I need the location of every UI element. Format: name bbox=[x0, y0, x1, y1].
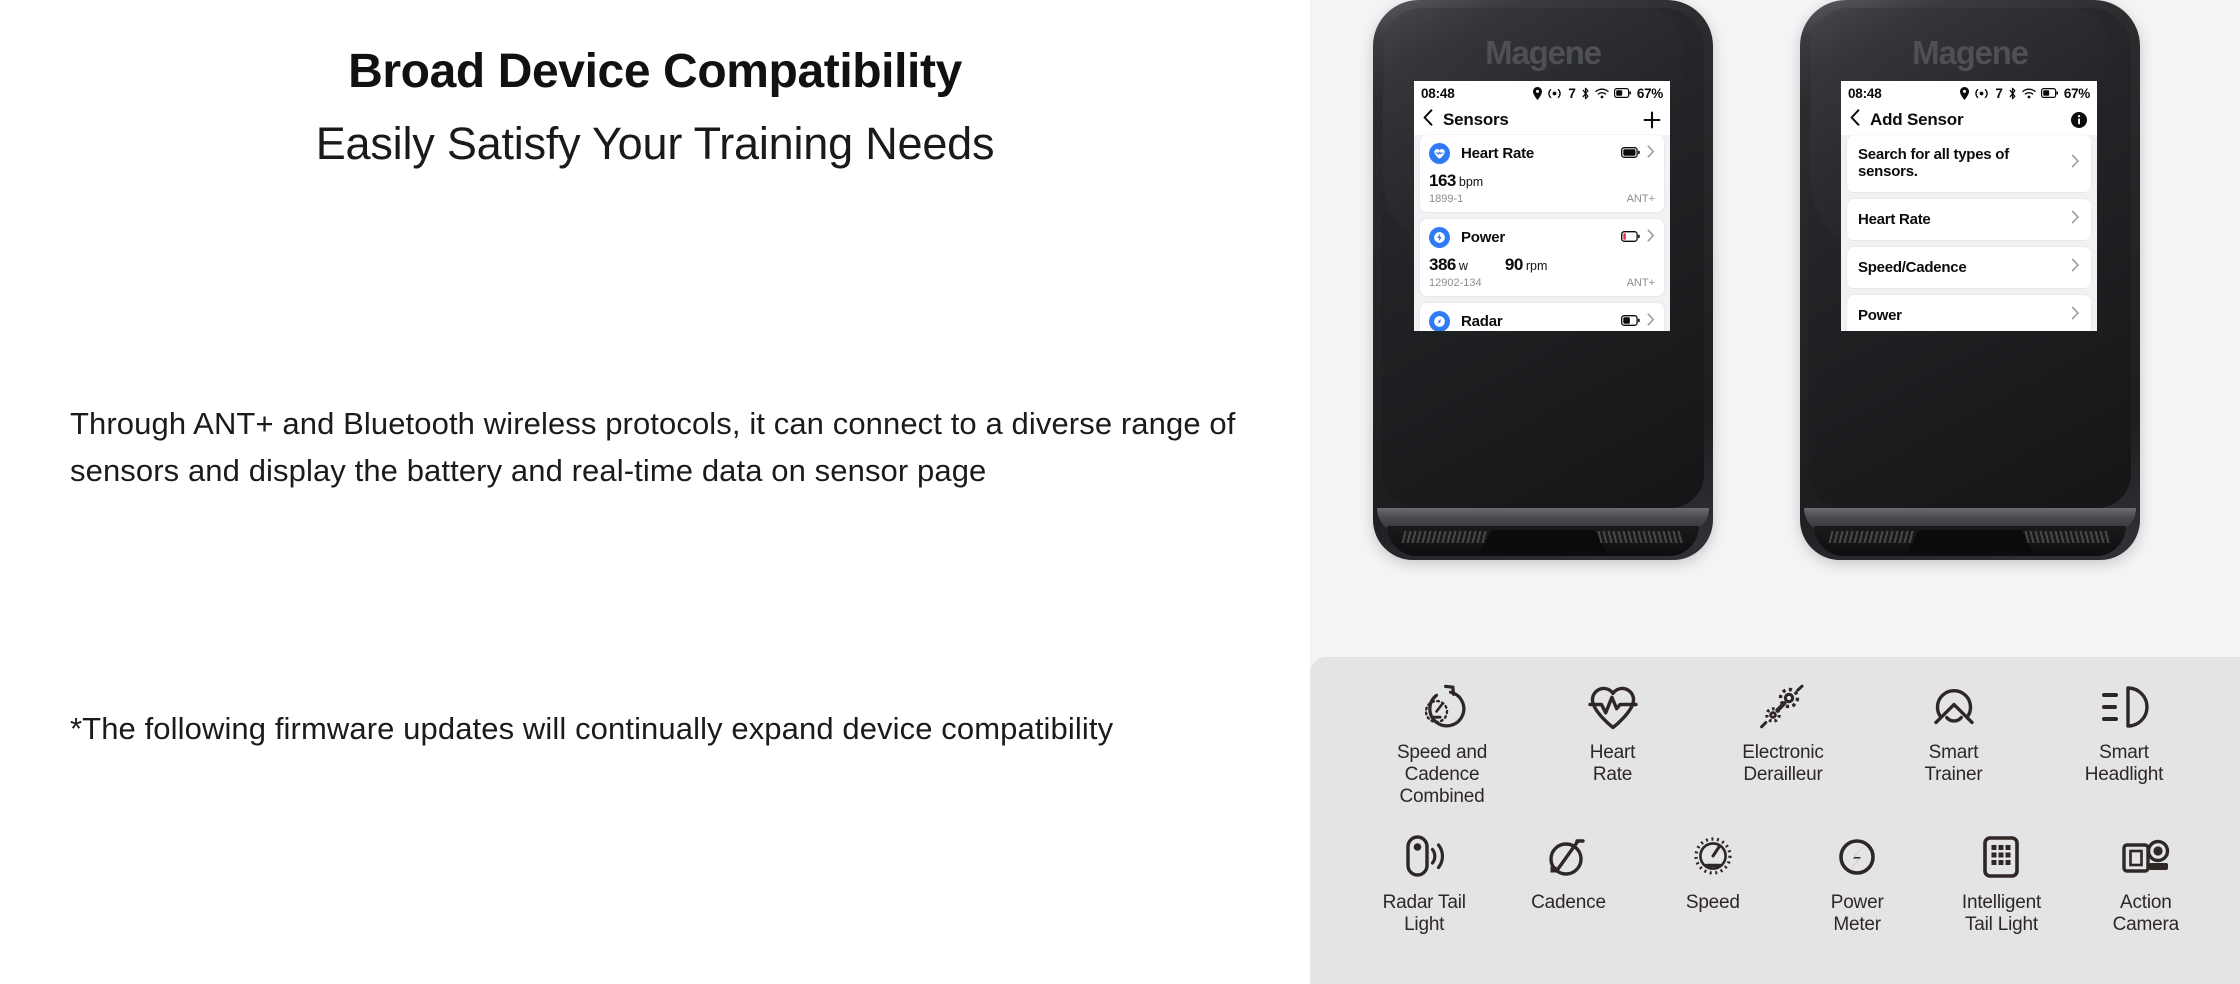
gps-pin-icon bbox=[1960, 87, 1969, 100]
bluetooth-icon bbox=[1581, 87, 1590, 100]
card-header-right bbox=[1621, 229, 1655, 247]
compat-label: HeartRate bbox=[1590, 742, 1635, 786]
sensor-card-heart-rate[interactable]: Heart Rate bbox=[1420, 135, 1664, 212]
sensor-name: Power bbox=[1461, 229, 1505, 246]
status-time: 08:48 bbox=[1421, 86, 1455, 101]
action-camera-icon bbox=[2120, 831, 2172, 883]
compat-label: SmartHeadlight bbox=[2085, 742, 2163, 786]
compat-label: ActionCamera bbox=[2113, 892, 2179, 936]
compat-item-action-camera: ActionCamera bbox=[2074, 831, 2218, 936]
sensor-protocol: ANT+ bbox=[1627, 193, 1655, 205]
back-chevron-left-icon[interactable] bbox=[1423, 109, 1433, 131]
brand-logo: Magene bbox=[1800, 34, 2140, 72]
status-time: 08:48 bbox=[1848, 86, 1882, 101]
chevron-right-icon[interactable] bbox=[2071, 306, 2080, 325]
sensor-card-radar[interactable]: Radar bbox=[1420, 303, 1664, 331]
battery-half-icon bbox=[1621, 313, 1640, 331]
sensor-card-power[interactable]: Power bbox=[1420, 219, 1664, 296]
compat-item-smart-trainer: SmartTrainer bbox=[1874, 681, 2034, 809]
satellite-signal-icon bbox=[1974, 88, 1989, 99]
vent-grill-right bbox=[2025, 531, 2112, 543]
card-footer: 12902-134 ANT+ bbox=[1429, 277, 1655, 289]
vent-grill-left bbox=[1402, 531, 1489, 543]
card-metrics: 163 bpm bbox=[1429, 171, 1655, 191]
chevron-right-icon[interactable] bbox=[2071, 154, 2080, 173]
footnote-paragraph: *The following firmware updates will con… bbox=[70, 705, 1180, 752]
compatibility-icon-grid: Speed andCadence Combined HeartRate bbox=[1310, 657, 2240, 984]
speed-cadence-combined-icon bbox=[1417, 681, 1467, 733]
device-screen[interactable]: 08:48 7 bbox=[1841, 81, 2097, 331]
intelligent-tail-light-icon bbox=[1979, 831, 2023, 883]
heart-rate-icon bbox=[1588, 681, 1638, 733]
metric-value: 163 bbox=[1429, 171, 1456, 191]
satellite-count: 7 bbox=[1995, 86, 2003, 101]
chevron-right-icon[interactable] bbox=[1647, 313, 1655, 331]
product-panel: Magene 08:48 7 bbox=[1310, 0, 2240, 984]
chevron-right-icon[interactable] bbox=[1647, 145, 1655, 163]
card-metrics: 386 w 90 rpm bbox=[1429, 255, 1655, 275]
power-meter-icon bbox=[1833, 831, 1881, 883]
compat-label: Radar TailLight bbox=[1383, 892, 1466, 936]
compat-label: Speed andCadence Combined bbox=[1362, 742, 1522, 809]
compat-item-heart-rate: HeartRate bbox=[1533, 681, 1693, 809]
sensor-name: Radar bbox=[1461, 313, 1503, 330]
gps-pin-icon bbox=[1533, 87, 1542, 100]
row-label: Heart Rate bbox=[1858, 211, 1931, 228]
compat-label: IntelligentTail Light bbox=[1962, 892, 2041, 936]
add-sensor-plus-icon[interactable] bbox=[1643, 111, 1661, 129]
sensor-id: 12902-134 bbox=[1429, 277, 1482, 289]
compat-label: SmartTrainer bbox=[1924, 742, 1982, 786]
battery-full-icon bbox=[1621, 145, 1640, 163]
wifi-icon bbox=[1595, 88, 1609, 99]
sensor-id: 1899-1 bbox=[1429, 193, 1463, 205]
metric-value: 386 bbox=[1429, 255, 1456, 275]
speed-icon bbox=[1689, 831, 1737, 883]
satellite-signal-icon bbox=[1547, 88, 1562, 99]
body-paragraph: Through ANT+ and Bluetooth wireless prot… bbox=[70, 400, 1250, 494]
row-label: Speed/Cadence bbox=[1858, 259, 1966, 276]
radar-icon bbox=[1429, 311, 1450, 331]
compat-label: Speed bbox=[1686, 892, 1740, 914]
chevron-right-icon[interactable] bbox=[2071, 258, 2080, 277]
page-title: Broad Device Compatibility bbox=[0, 46, 1310, 99]
card-header: Radar bbox=[1429, 311, 1655, 331]
compat-item-radar-tail-light: Radar TailLight bbox=[1352, 831, 1496, 936]
compat-label: Cadence bbox=[1531, 892, 1606, 914]
card-header: Power bbox=[1429, 227, 1655, 248]
cadence-icon bbox=[1544, 831, 1592, 883]
battery-percent: 67% bbox=[1637, 86, 1663, 101]
icon-grid-row-1: Speed andCadence Combined HeartRate bbox=[1324, 681, 2226, 809]
status-bar: 08:48 7 bbox=[1841, 81, 2097, 105]
device-screen[interactable]: 08:48 7 bbox=[1414, 81, 1670, 331]
sensor-name: Heart Rate bbox=[1461, 145, 1534, 162]
smart-trainer-icon bbox=[1930, 681, 1978, 733]
card-header-right bbox=[1621, 145, 1655, 163]
device-vent bbox=[1814, 526, 2126, 556]
compat-item-electronic-derailleur: ElectronicDerailleur bbox=[1703, 681, 1863, 809]
device-shell: Magene 08:48 7 bbox=[1800, 0, 2140, 560]
add-sensor-row-heart-rate[interactable]: Heart Rate bbox=[1847, 199, 2091, 240]
icon-grid-row-2: Radar TailLight Cadence bbox=[1324, 809, 2226, 936]
screen-navbar: Sensors bbox=[1414, 105, 1670, 135]
bluetooth-icon bbox=[2008, 87, 2017, 100]
row-label: Search for all types of sensors. bbox=[1858, 146, 2048, 181]
electronic-derailleur-icon bbox=[1758, 681, 1808, 733]
brand-logo: Magene bbox=[1373, 34, 1713, 72]
wifi-icon bbox=[2022, 88, 2036, 99]
power-bolt-icon bbox=[1429, 227, 1450, 248]
satellite-count: 7 bbox=[1568, 86, 1576, 101]
heading-block: Broad Device Compatibility Easily Satisf… bbox=[0, 46, 1310, 169]
compat-item-speed-cadence-combined: Speed andCadence Combined bbox=[1362, 681, 1522, 809]
device-showcase: Magene 08:48 7 bbox=[1310, 0, 2240, 657]
radar-tail-light-icon bbox=[1401, 831, 1447, 883]
compat-item-power-meter: PowerMeter bbox=[1785, 831, 1929, 936]
page-subtitle: Easily Satisfy Your Training Needs bbox=[0, 119, 1310, 169]
sensor-card-list: Heart Rate bbox=[1414, 135, 1670, 331]
vent-grill-right bbox=[1598, 531, 1685, 543]
device-sensors: Magene 08:48 7 bbox=[1373, 0, 1713, 590]
compat-label: ElectronicDerailleur bbox=[1742, 742, 1823, 786]
metric: 90 rpm bbox=[1505, 255, 1547, 275]
metric-value: 90 bbox=[1505, 255, 1523, 275]
metric: 386 w bbox=[1429, 255, 1468, 275]
compat-item-intelligent-tail-light: IntelligentTail Light bbox=[1929, 831, 2073, 936]
card-footer: 1899-1 ANT+ bbox=[1429, 193, 1655, 205]
screen-navbar: Add Sensor bbox=[1841, 105, 2097, 135]
metric: 163 bpm bbox=[1429, 171, 1483, 191]
vent-grill-left bbox=[1829, 531, 1916, 543]
metric-unit: rpm bbox=[1526, 259, 1548, 273]
copy-column: Broad Device Compatibility Easily Satisf… bbox=[0, 0, 1310, 984]
info-icon[interactable] bbox=[2070, 111, 2088, 129]
chevron-right-icon[interactable] bbox=[1647, 229, 1655, 247]
compat-item-cadence: Cadence bbox=[1496, 831, 1640, 936]
add-sensor-list: Search for all types of sensors. Heart R… bbox=[1841, 135, 2097, 331]
chevron-right-icon[interactable] bbox=[2071, 210, 2080, 229]
add-sensor-row-power[interactable]: Power bbox=[1847, 295, 2091, 331]
device-add-sensor: Magene 08:48 7 bbox=[1800, 0, 2140, 590]
card-header-right bbox=[1621, 313, 1655, 331]
compat-label: PowerMeter bbox=[1831, 892, 1884, 936]
slide-root: Broad Device Compatibility Easily Satisf… bbox=[0, 0, 2240, 984]
heart-rate-icon bbox=[1429, 143, 1450, 164]
row-label: Power bbox=[1858, 307, 1902, 324]
status-bar: 08:48 7 bbox=[1414, 81, 1670, 105]
device-vent bbox=[1387, 526, 1699, 556]
device-shell: Magene 08:48 7 bbox=[1373, 0, 1713, 560]
compat-item-speed: Speed bbox=[1641, 831, 1785, 936]
card-header: Heart Rate bbox=[1429, 143, 1655, 164]
battery-icon bbox=[1614, 88, 1631, 98]
metric-unit: w bbox=[1459, 259, 1468, 273]
add-sensor-row-search[interactable]: Search for all types of sensors. bbox=[1847, 135, 2091, 192]
smart-headlight-icon bbox=[2099, 681, 2149, 733]
metric-unit: bpm bbox=[1459, 175, 1483, 189]
compat-item-smart-headlight: SmartHeadlight bbox=[2044, 681, 2204, 809]
battery-percent: 67% bbox=[2064, 86, 2090, 101]
sensor-protocol: ANT+ bbox=[1627, 277, 1655, 289]
screen-title: Add Sensor bbox=[1870, 110, 1963, 130]
back-chevron-left-icon[interactable] bbox=[1850, 109, 1860, 131]
screen-title: Sensors bbox=[1443, 110, 1509, 130]
battery-low-icon bbox=[1621, 229, 1640, 247]
add-sensor-row-speed-cadence[interactable]: Speed/Cadence bbox=[1847, 247, 2091, 288]
battery-icon bbox=[2041, 88, 2058, 98]
